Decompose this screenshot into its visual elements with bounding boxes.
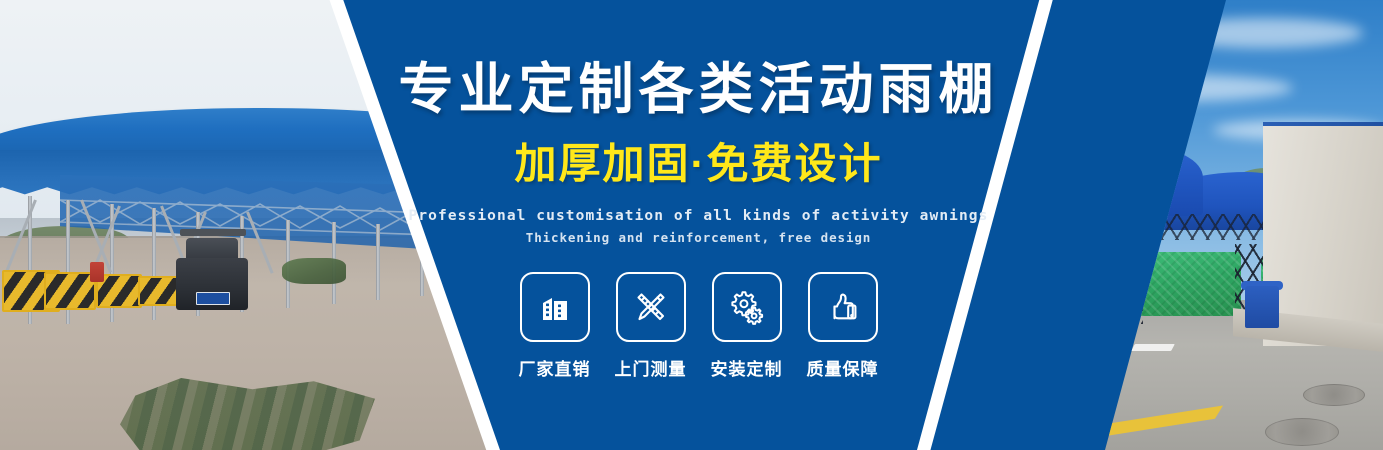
- headline: 专业定制各类活动雨棚: [0, 62, 1383, 117]
- feature-item-installation-custom[interactable]: 安装定制: [711, 272, 783, 380]
- right-photo-cloud: [1163, 18, 1363, 48]
- feature-icon-box: [808, 272, 878, 342]
- thumbs-up-icon: [825, 289, 861, 325]
- feature-icon-box: [520, 272, 590, 342]
- feature-item-factory-direct[interactable]: 厂家直销: [519, 272, 591, 380]
- factory-building-icon: [537, 289, 573, 325]
- right-photo-manhole: [1265, 418, 1339, 446]
- feature-label: 安装定制: [711, 355, 783, 380]
- feature-icon-box: [712, 272, 782, 342]
- feature-list: 厂家直销 上门测量: [0, 272, 1383, 380]
- feature-label: 厂家直销: [519, 355, 591, 380]
- english-subtitle-line-2: Thickening and reinforcement, free desig…: [0, 230, 1383, 245]
- feature-item-quality-guarantee[interactable]: 质量保障: [807, 272, 879, 380]
- promo-banner: 专业定制各类活动雨棚 加厚加固·免费设计 Professional custom…: [0, 0, 1383, 450]
- right-photo-manhole: [1303, 384, 1365, 406]
- gears-icon: [728, 288, 766, 326]
- subheadline: 加厚加固·免费设计: [0, 143, 1383, 185]
- feature-label: 上门测量: [615, 355, 687, 380]
- ruler-pencil-icon: [632, 288, 670, 326]
- feature-item-onsite-measurement[interactable]: 上门测量: [615, 272, 687, 380]
- english-subtitle-line-1: Professional customisation of all kinds …: [0, 208, 1383, 224]
- feature-label: 质量保障: [807, 355, 879, 380]
- left-photo-folded-tarp: [120, 378, 375, 450]
- feature-icon-box: [616, 272, 686, 342]
